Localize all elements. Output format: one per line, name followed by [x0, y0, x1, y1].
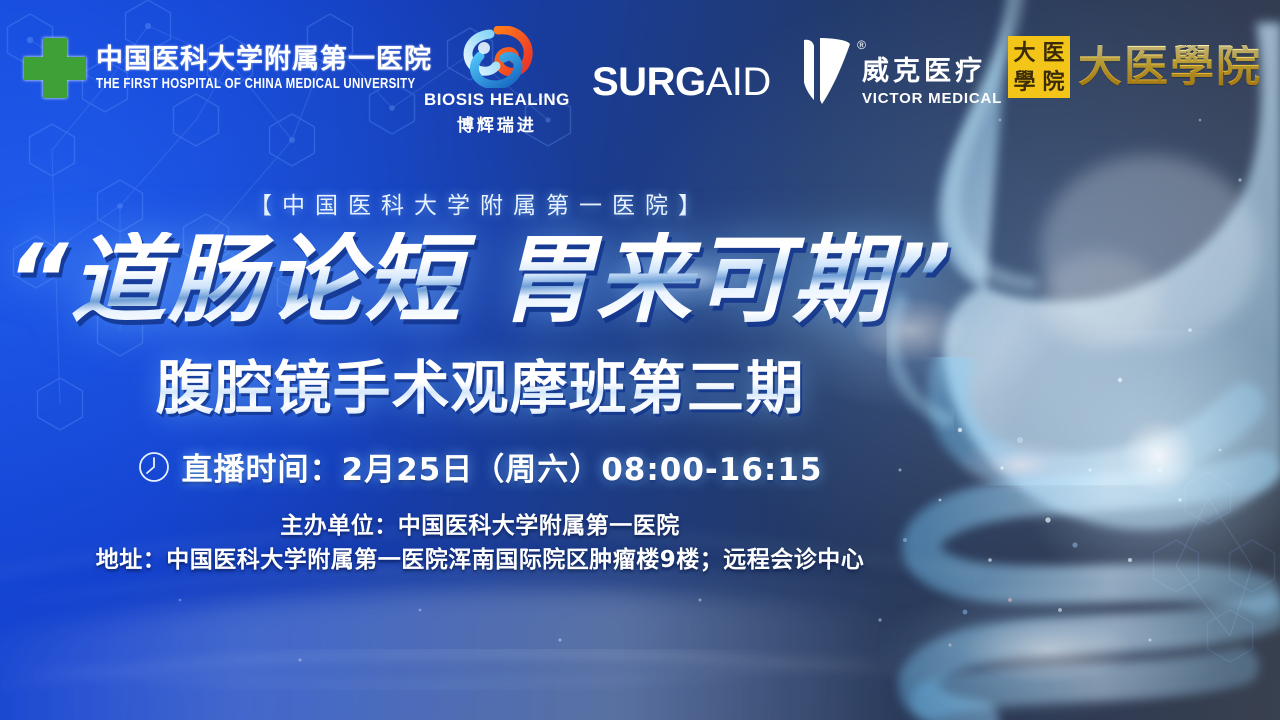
victor-name-en: VICTOR MEDICAL	[862, 91, 1002, 106]
conference-poster: 中国医科大学附属第一医院 THE FIRST HOSPITAL OF CHINA…	[0, 0, 1280, 720]
poster-subtitle: 腹腔镜手术观摩班第三期	[0, 358, 960, 419]
page-title: “道肠论短 胃来可期”	[0, 232, 960, 328]
surgaid-name-light: AID	[706, 60, 771, 105]
victor-name-cn: 威克医疗	[862, 58, 1002, 85]
seal-char-1: 大	[1013, 42, 1035, 64]
clock-icon	[138, 451, 170, 483]
hospital-name-cn: 中国医科大学附属第一医院	[96, 46, 432, 73]
seal-char-3: 學	[1013, 71, 1035, 93]
organizer-line: 主办单位：中国医科大学附属第一医院	[0, 506, 960, 540]
biosis-name-cn: 博辉瑞进	[457, 111, 537, 136]
sponsor-logo-bar: 中国医科大学附属第一医院 THE FIRST HOSPITAL OF CHINA…	[0, 0, 1280, 140]
biosis-swirl-sphere-icon	[460, 26, 534, 88]
logo-hospital: 中国医科大学附属第一医院 THE FIRST HOSPITAL OF CHINA…	[24, 38, 432, 98]
hospital-name-en: THE FIRST HOSPITAL OF CHINA MEDICAL UNIV…	[96, 78, 432, 92]
seal-char-4: 院	[1042, 71, 1064, 93]
broadcast-time-row: 直播时间：2月25日（周六）08:00-16:15	[0, 444, 960, 489]
seal-char-2: 医	[1042, 42, 1064, 64]
logo-surgaid: SURG AID	[592, 60, 771, 105]
broadcast-time-label: 直播时间：2月25日（周六）08:00-16:15	[182, 444, 823, 489]
biosis-name-en: BIOSIS HEALING	[424, 90, 570, 110]
logo-dayi-academy: 大 医 學 院 大医學院	[1008, 36, 1262, 98]
address-line: 地址：中国医科大学附属第一医院浑南国际院区肿瘤楼9楼；远程会诊中心	[0, 540, 960, 574]
registered-trademark-icon: ®	[857, 38, 866, 52]
green-medical-cross-icon	[24, 38, 86, 98]
dayi-seal-icon: 大 医 學 院	[1008, 36, 1070, 98]
eyebrow-hospital-name: 【中国医科大学附属第一医院】	[0, 186, 960, 220]
victor-v-mark-icon: ®	[800, 34, 854, 110]
logo-victor-medical: ® 威克医疗 VICTOR MEDICAL	[800, 34, 1002, 110]
dayi-name-cn: 大医學院	[1078, 45, 1262, 89]
logo-biosis-healing: BIOSIS HEALING 博辉瑞进	[424, 26, 570, 136]
surgaid-name-bold: SURG	[592, 60, 706, 105]
